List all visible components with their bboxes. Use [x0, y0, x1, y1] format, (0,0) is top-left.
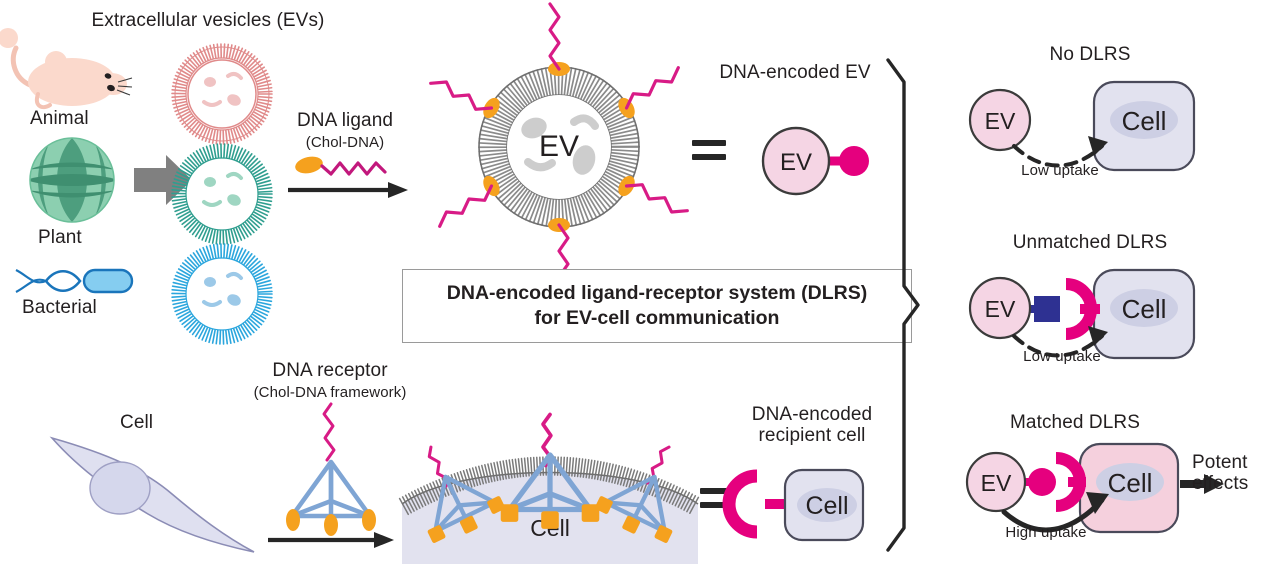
encoded-cell-caption-1: DNA-encoded	[752, 404, 872, 425]
chol-dna-icon	[292, 152, 402, 180]
svg-text:Cell: Cell	[1122, 294, 1167, 324]
potent-effects-line1: Potent	[1192, 452, 1248, 473]
dna-receptor-title: DNA receptor	[272, 360, 387, 382]
cell-source-label: Cell	[120, 412, 153, 434]
process-arrow-receptor	[268, 530, 396, 550]
watermelon-icon	[22, 130, 122, 230]
mouse-icon	[8, 38, 136, 116]
svg-text:Cell: Cell	[805, 492, 848, 520]
svg-text:EV: EV	[981, 470, 1012, 496]
process-arrow-ligand	[288, 180, 410, 200]
dlrs-line2: for EV-cell communication	[535, 307, 780, 329]
source-label-animal: Animal	[30, 108, 89, 130]
uptake-label-no-dlrs: Low uptake	[1021, 162, 1099, 179]
svg-text:EV: EV	[985, 296, 1016, 322]
dna-encoded-ev-symbol: EV	[752, 118, 878, 204]
source-label-plant: Plant	[38, 227, 82, 249]
uptake-label-matched-dlrs: High uptake	[1005, 524, 1086, 541]
svg-text:EV: EV	[985, 108, 1016, 134]
fibroblast-cell-icon	[48, 432, 258, 557]
evs-header: Extracellular vesicles (EVs)	[92, 10, 325, 32]
vesicle-animal	[166, 38, 278, 150]
bacteria-icon	[12, 262, 138, 302]
dna-encoded-cell-membrane: Cell	[400, 378, 700, 564]
dna-ligand-title: DNA ligand	[297, 110, 393, 132]
potent-effects-label: Potent effects	[1192, 452, 1248, 495]
svg-text:EV: EV	[780, 149, 812, 176]
svg-text:Cell: Cell	[1122, 106, 1167, 136]
dna-receptor-subtitle: (Chol-DNA framework)	[254, 384, 407, 401]
outcome-title-no-dlrs: No DLRS	[1050, 44, 1131, 66]
outcome-title-unmatched-dlrs: Unmatched DLRS	[1013, 232, 1168, 254]
outcome-title-matched-dlrs: Matched DLRS	[1010, 412, 1140, 434]
outcome-diagram-no-dlrs: Cell EV	[952, 70, 1252, 200]
vesicle-plant	[166, 138, 278, 250]
dna-encoded-cell-caption: DNA-encoded recipient cell	[752, 404, 872, 447]
equals-sign-ev	[692, 140, 726, 160]
uptake-label-unmatched-dlrs: Low uptake	[1023, 348, 1101, 365]
outcome-diagram-unmatched-dlrs: Cell EV	[952, 258, 1252, 388]
source-label-bacterial: Bacterial	[22, 297, 97, 319]
vesicle-bacterial	[166, 238, 278, 350]
svg-text:Cell: Cell	[1108, 468, 1153, 498]
dna-tetrahedron-icon	[266, 400, 396, 530]
dna-ligand-subtitle: (Chol-DNA)	[306, 134, 385, 151]
dlrs-title-box: DNA-encoded ligand-receptor system (DLRS…	[402, 269, 912, 343]
dlrs-line1: DNA-encoded ligand-receptor system (DLRS…	[447, 282, 867, 304]
dna-encoded-cell-symbol: Cell	[735, 458, 875, 554]
ev-dna-ligands	[424, 22, 694, 272]
encoded-cell-caption-2: recipient cell	[758, 425, 865, 446]
potent-effects-line2: effects	[1192, 473, 1248, 494]
dna-encoded-ev-caption: DNA-encoded EV	[719, 62, 870, 84]
grouping-bracket	[884, 58, 924, 552]
